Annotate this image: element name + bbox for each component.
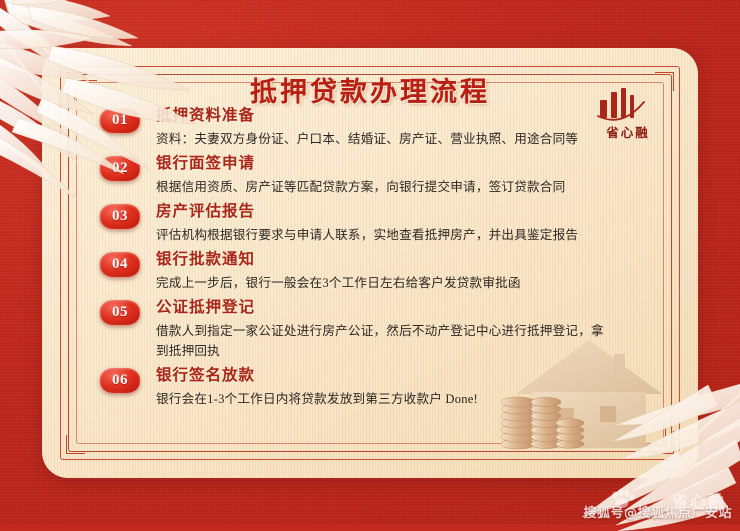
step-description: 资料：夫妻双方身份证、户口本、结婚证、房产证、营业执照、用途合同等 (156, 129, 608, 149)
step-badge: 02 (100, 156, 140, 181)
brand-logo: 省心融 (592, 86, 664, 141)
paw-print-icon (610, 489, 636, 509)
step-badge: 01 (100, 108, 140, 133)
poster-background: 抵押贷款办理流程 省心融 01 抵押资料准备 资料：夫妻双方身份证、户口本 (0, 0, 740, 525)
step-description: 评估机构根据银行要求与申请人联系，实地查看抵押房产，并出具鉴定报告 (156, 225, 608, 245)
list-item: 02 银行面签申请 根据信用资质、房产证等匹配贷款方案，向银行提交申请，签订贷款… (100, 154, 620, 197)
step-badge: 06 (100, 368, 140, 393)
step-description: 根据信用资质、房产证等匹配贷款方案，向银行提交申请，签订贷款合同 (156, 177, 608, 197)
list-item: 01 抵押资料准备 资料：夫妻双方身份证、户口本、结婚证、房产证、营业执照、用途… (100, 106, 620, 149)
step-description: 完成上一步后，银行一般会在3个工作日左右给客户发贷款审批函 (156, 273, 608, 293)
step-description: 借款人到指定一家公证处进行房产公证，然后不动产登记中心进行抵押登记，拿到抵押回执 (156, 321, 608, 361)
step-title: 抵押资料准备 (156, 106, 620, 127)
list-item: 05 公证抵押登记 借款人到指定一家公证处进行房产公证，然后不动产登记中心进行抵… (100, 298, 620, 361)
step-badge: 03 (100, 204, 140, 229)
step-title: 银行批款通知 (156, 250, 620, 271)
bar-chart-building-icon (592, 86, 652, 124)
step-description: 银行会在1-3个工作日内将贷款发放到第三方收款户 Done! (156, 389, 608, 409)
corner-step-bottom-left (66, 435, 85, 454)
step-badge: 05 (100, 300, 140, 325)
step-title: 公证抵押登记 (156, 298, 620, 319)
step-badge: 04 (100, 252, 140, 277)
step-title: 银行面签申请 (156, 154, 620, 175)
step-title: 银行签名放款 (156, 366, 620, 387)
brand-name: 省心融 (592, 122, 664, 141)
list-item: 06 银行签名放款 银行会在1-3个工作日内将贷款发放到第三方收款户 Done! (100, 366, 620, 409)
step-title: 房产评估报告 (156, 202, 620, 223)
watermark-overlay-logo: 省心融 (672, 488, 726, 512)
list-item: 04 银行批款通知 完成上一步后，银行一般会在3个工作日左右给客户发贷款审批函 (100, 250, 620, 293)
steps-list: 01 抵押资料准备 资料：夫妻双方身份证、户口本、结婚证、房产证、营业执照、用途… (100, 106, 620, 415)
list-item: 03 房产评估报告 评估机构根据银行要求与申请人联系，实地查看抵押房产，并出具鉴… (100, 202, 620, 245)
content-card: 抵押贷款办理流程 省心融 01 抵押资料准备 资料：夫妻双方身份证、户口本 (42, 48, 698, 478)
watermark: 搜狐号@搜狐焦点广安站 省心融 (583, 502, 732, 521)
